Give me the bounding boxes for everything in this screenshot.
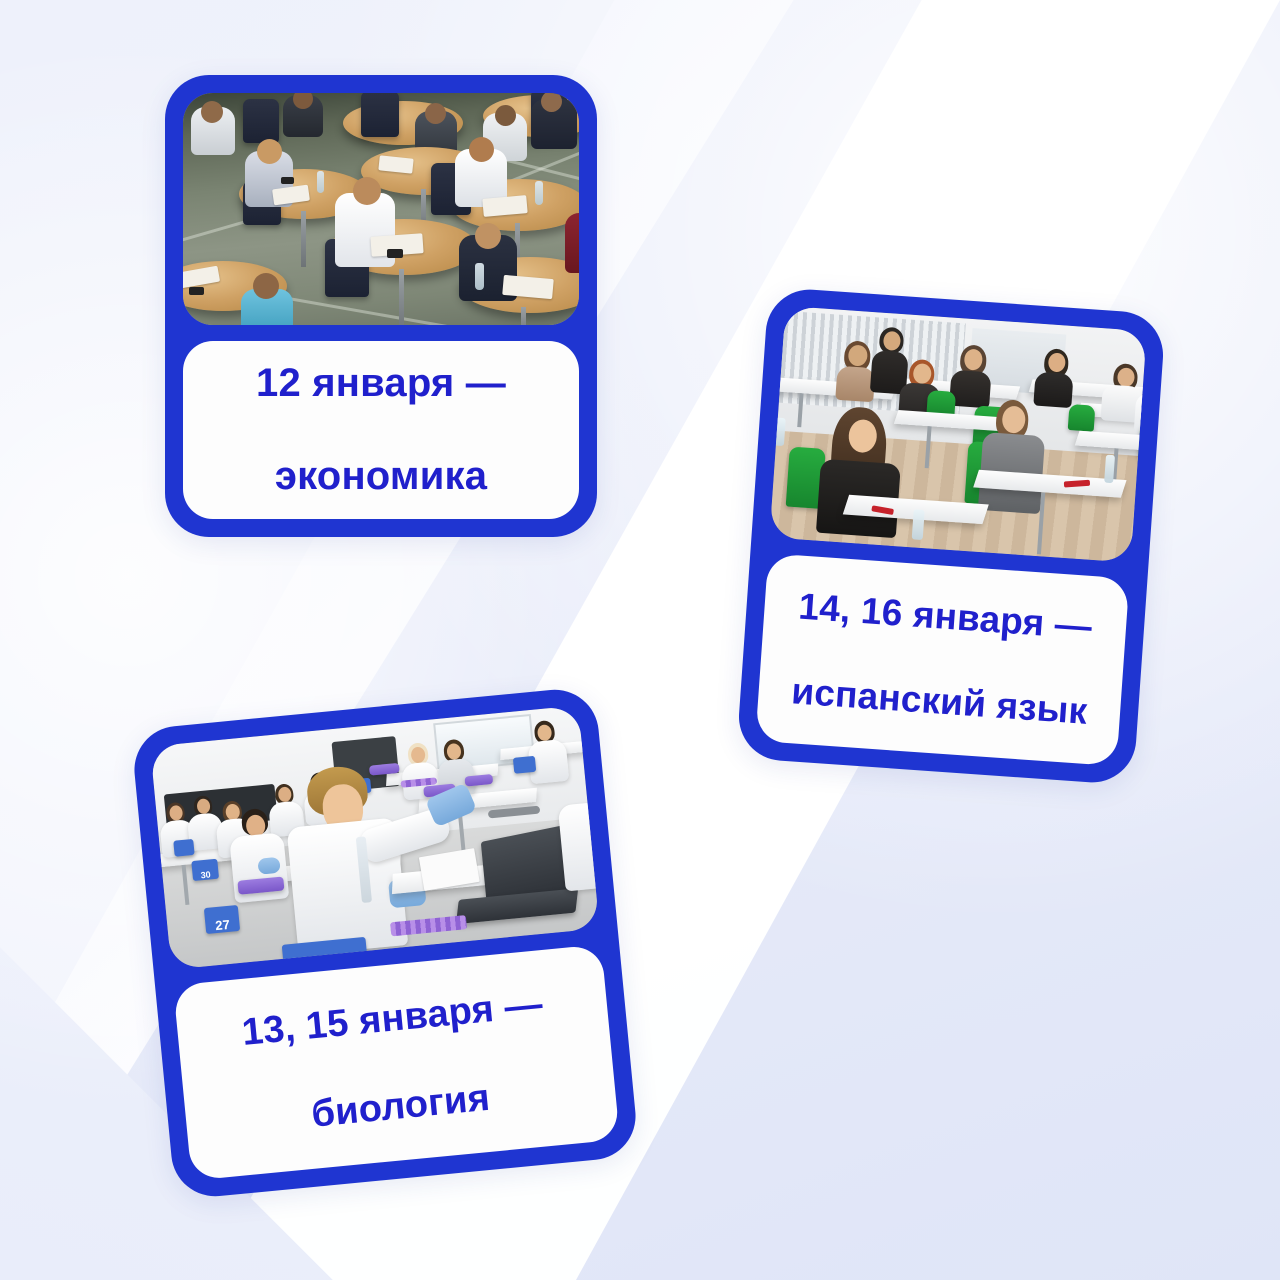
- student-head: [425, 103, 446, 124]
- water-bottle: [912, 509, 925, 540]
- student-head: [253, 273, 279, 299]
- phone: [387, 249, 403, 258]
- green-chair: [1068, 404, 1096, 432]
- label-line-1: 14, 16 января —: [796, 585, 1095, 648]
- label-line-2: экономика: [256, 453, 506, 499]
- student-body: [949, 370, 991, 409]
- scene-exam-hall: [183, 93, 579, 325]
- scene-biology-lab: 30 27: [150, 705, 599, 969]
- card-label-text: 13, 15 января —биология: [240, 982, 553, 1143]
- student-body: [565, 213, 579, 273]
- card-spanish[interactable]: 14, 16 января —испанский язык: [736, 287, 1166, 786]
- water-bottle: [475, 263, 484, 290]
- student-head: [201, 101, 223, 123]
- chair: [243, 99, 279, 143]
- lab-coat: [558, 802, 600, 892]
- label-line-2: биология: [248, 1070, 553, 1143]
- water-bottle: [535, 181, 543, 205]
- phone: [189, 287, 204, 295]
- label-line-1: 12 января —: [256, 360, 506, 406]
- exam-paper: [482, 195, 527, 217]
- student-head: [469, 137, 494, 162]
- student-head: [257, 139, 282, 164]
- desk-placard-27: 27: [204, 905, 240, 934]
- student-head: [495, 105, 516, 126]
- student-head: [475, 223, 501, 249]
- student-hair: [1146, 371, 1147, 399]
- photo-economics: [183, 93, 579, 325]
- desk-placard: [513, 756, 536, 774]
- card-label-text: 12 января —экономика: [256, 360, 506, 499]
- poster-stage: 12 января —экономика: [0, 0, 1280, 1280]
- scene-classroom: [769, 306, 1146, 563]
- label-line-1: 13, 15 января —: [240, 982, 545, 1055]
- desk-placard: [173, 839, 194, 857]
- water-bottle: [317, 171, 324, 193]
- desk-placard-30: 30: [191, 859, 219, 881]
- label-line-2: испанский язык: [790, 671, 1089, 734]
- card-label-text: 14, 16 января —испанский язык: [790, 585, 1095, 734]
- student-body: [1033, 372, 1073, 409]
- table-leg: [521, 307, 526, 325]
- card-label-spanish: 14, 16 января —испанский язык: [755, 553, 1129, 766]
- card-economics[interactable]: 12 января —экономика: [165, 75, 597, 537]
- chair: [361, 93, 399, 137]
- green-chair: [1138, 423, 1147, 461]
- card-label-economics: 12 января —экономика: [183, 341, 579, 519]
- card-biology[interactable]: 30 27: [130, 686, 639, 1200]
- water-bottle: [774, 417, 786, 446]
- photo-biology: 30 27: [150, 705, 599, 969]
- card-label-biology: 13, 15 января —биология: [173, 944, 620, 1180]
- phone: [281, 177, 294, 184]
- table-leg: [399, 269, 404, 325]
- photo-spanish: [769, 306, 1146, 563]
- exam-paper: [502, 275, 554, 299]
- student-head: [353, 177, 381, 205]
- table-leg: [301, 211, 306, 267]
